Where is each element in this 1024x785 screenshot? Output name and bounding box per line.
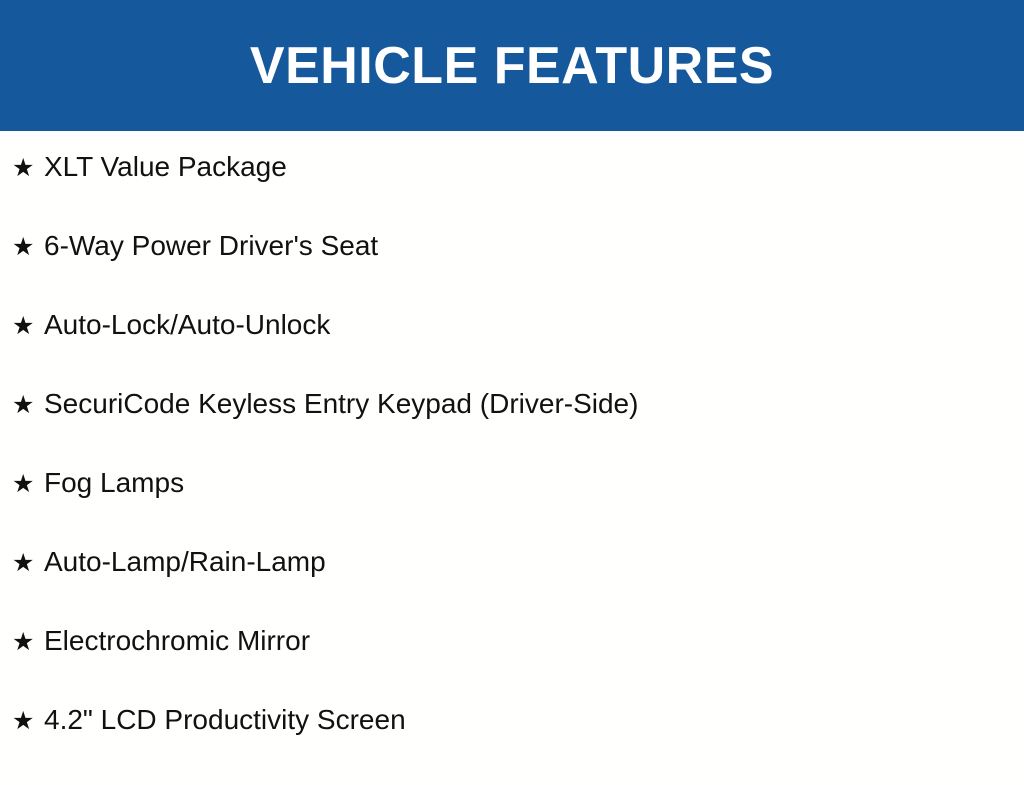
star-icon: ★ <box>12 550 44 575</box>
list-item: ★ 4.2" LCD Productivity Screen <box>0 706 1024 785</box>
feature-label: XLT Value Package <box>44 153 287 181</box>
list-item: ★ Electrochromic Mirror <box>0 627 1024 706</box>
feature-label: Auto-Lamp/Rain-Lamp <box>44 548 326 576</box>
feature-label: Fog Lamps <box>44 469 184 497</box>
list-item: ★ Auto-Lock/Auto-Unlock <box>0 311 1024 390</box>
feature-label: Auto-Lock/Auto-Unlock <box>44 311 330 339</box>
list-item: ★ XLT Value Package <box>0 131 1024 232</box>
star-icon: ★ <box>12 313 44 338</box>
vehicle-features-list: ★ XLT Value Package ★ 6-Way Power Driver… <box>0 131 1024 785</box>
feature-label: Electrochromic Mirror <box>44 627 310 655</box>
star-icon: ★ <box>12 234 44 259</box>
vehicle-features-page: VEHICLE FEATURES ★ XLT Value Package ★ 6… <box>0 0 1024 768</box>
star-icon: ★ <box>12 708 44 733</box>
feature-label: SecuriCode Keyless Entry Keypad (Driver-… <box>44 390 638 418</box>
star-icon: ★ <box>12 392 44 417</box>
page-title: VEHICLE FEATURES <box>250 40 774 92</box>
page-header-band: VEHICLE FEATURES <box>0 0 1024 131</box>
list-item: ★ Auto-Lamp/Rain-Lamp <box>0 548 1024 627</box>
list-item: ★ Fog Lamps <box>0 469 1024 548</box>
list-item: ★ 6-Way Power Driver's Seat <box>0 232 1024 311</box>
feature-label: 4.2" LCD Productivity Screen <box>44 706 406 734</box>
feature-label: 6-Way Power Driver's Seat <box>44 232 378 260</box>
star-icon: ★ <box>12 629 44 654</box>
star-icon: ★ <box>12 471 44 496</box>
list-item: ★ SecuriCode Keyless Entry Keypad (Drive… <box>0 390 1024 469</box>
star-icon: ★ <box>12 155 44 180</box>
